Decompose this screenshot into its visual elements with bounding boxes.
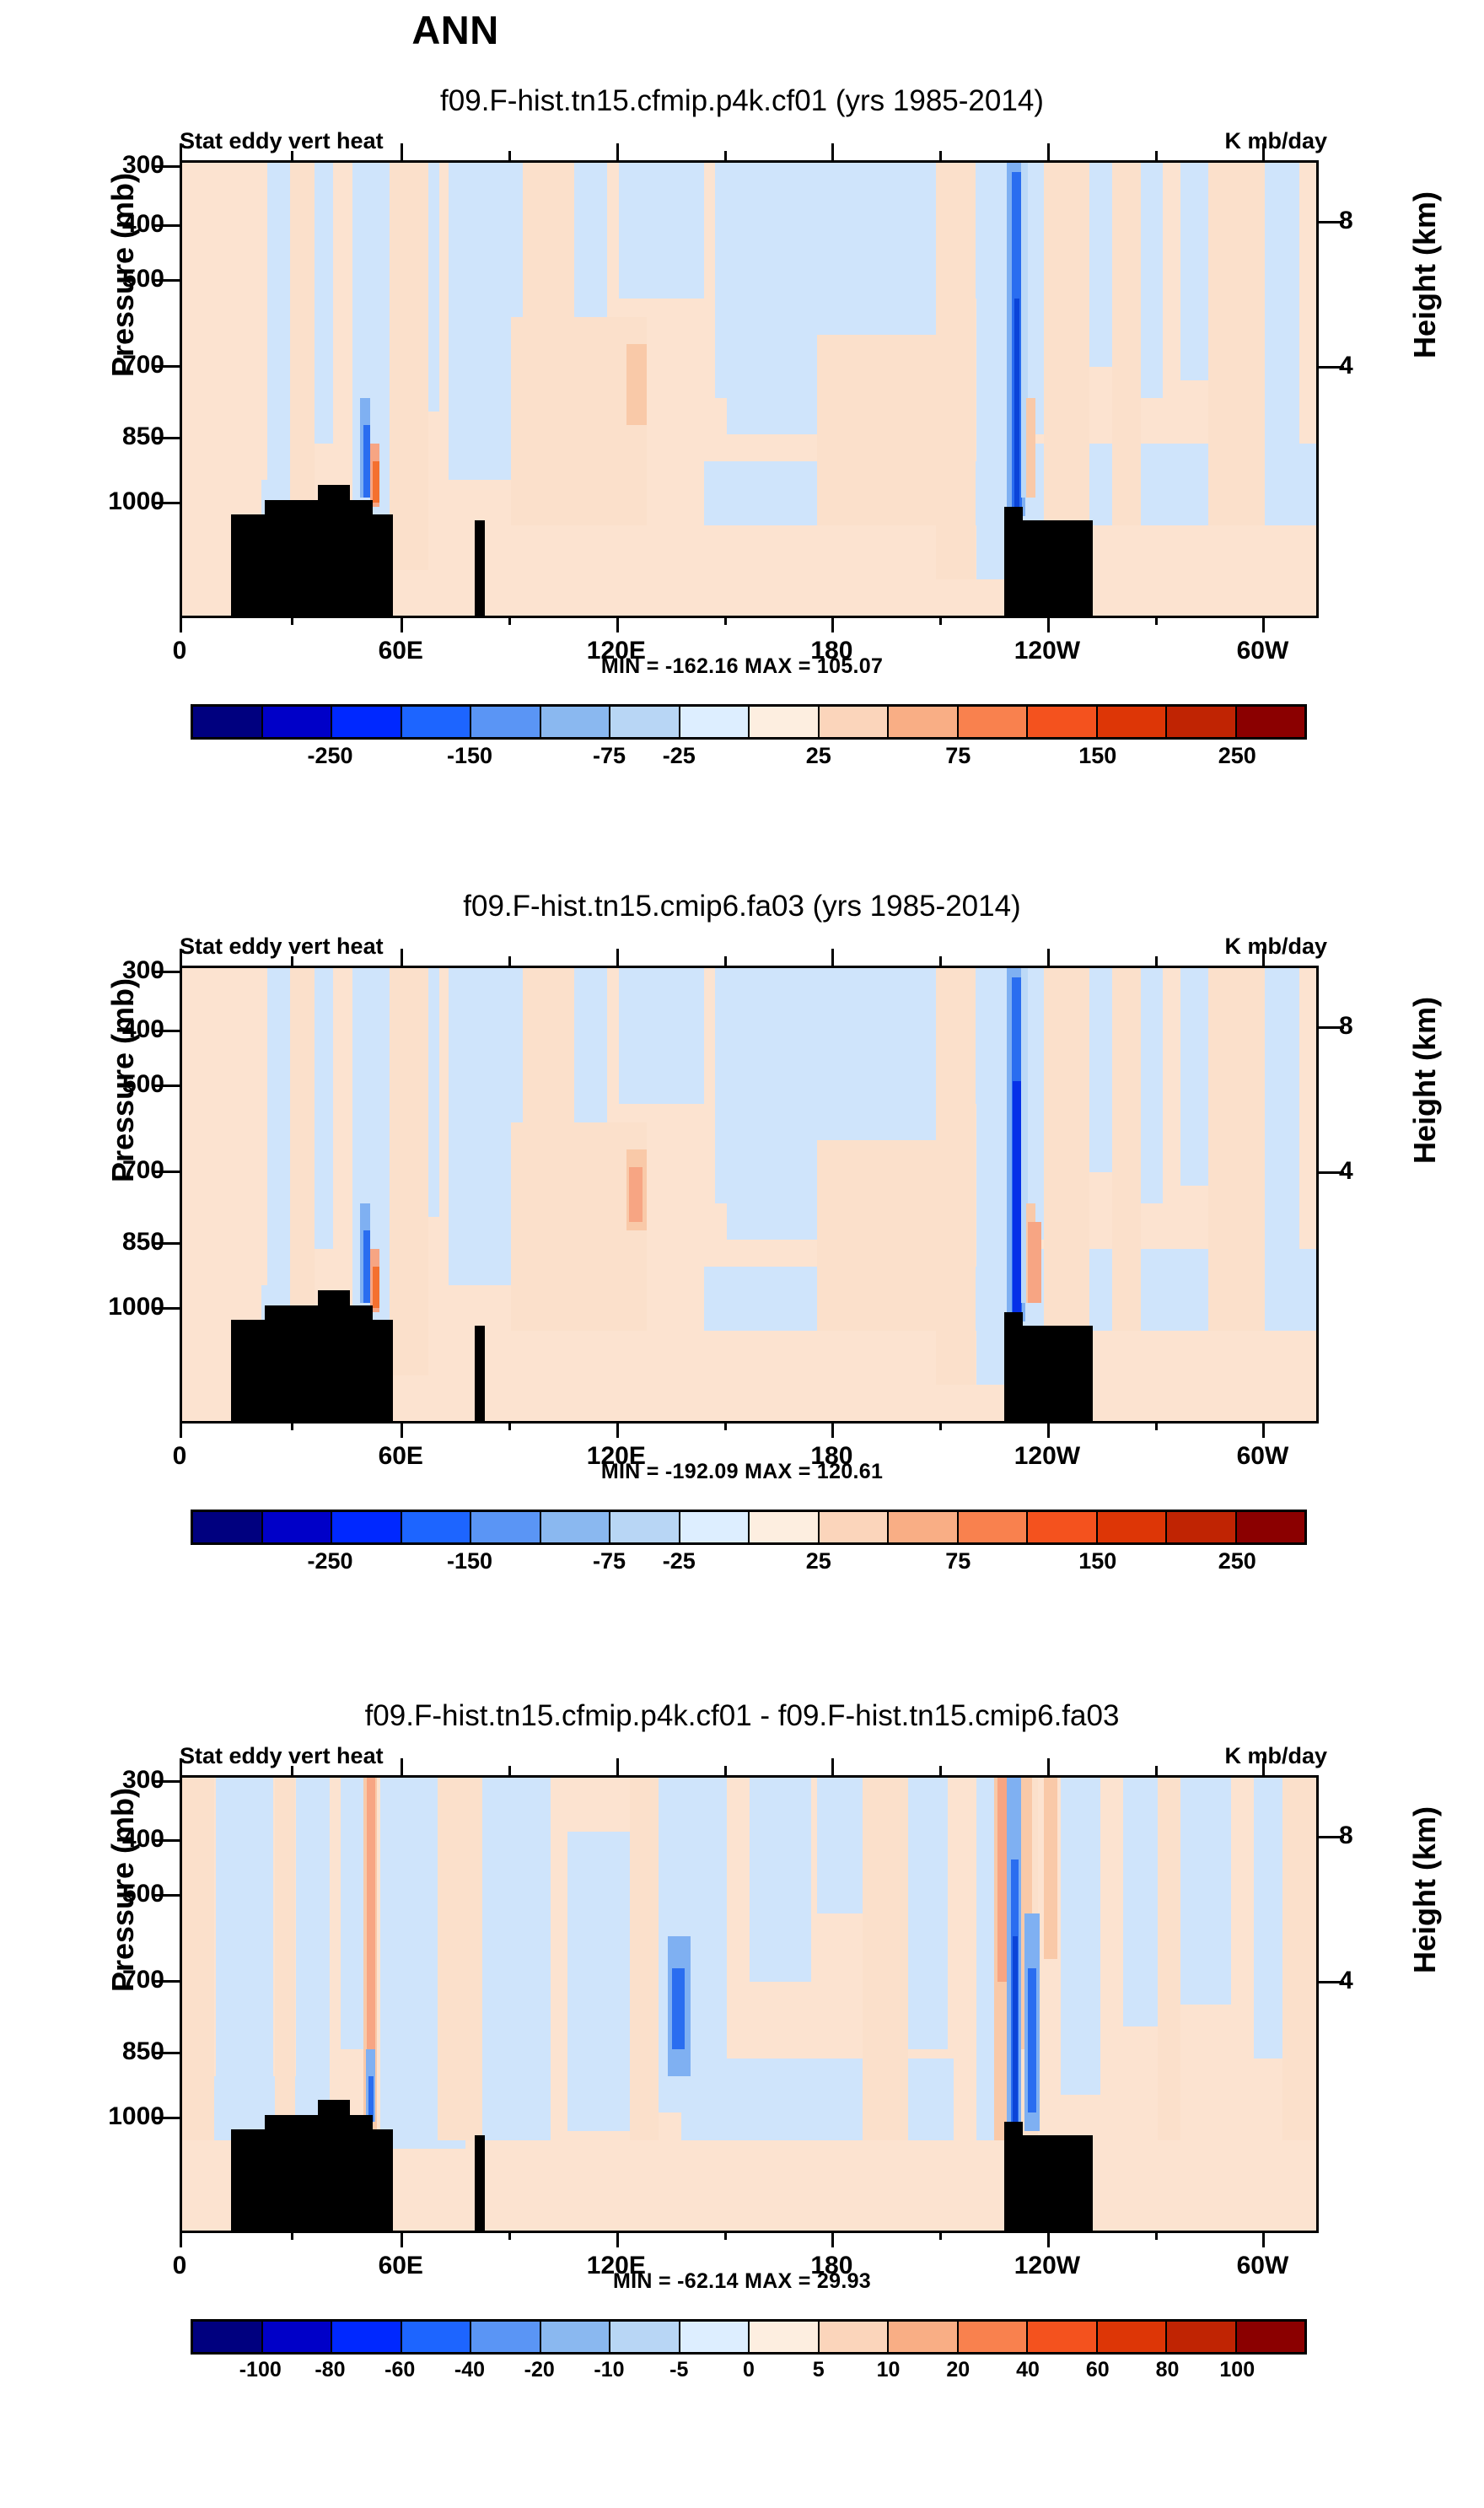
- colorbar-tick-label: 150: [1039, 743, 1157, 769]
- topography-mask: [318, 2100, 350, 2231]
- contour-band: [1265, 163, 1298, 457]
- colorbar-cell: [1167, 707, 1237, 737]
- topography-mask: [231, 514, 265, 616]
- contour-band: [681, 2059, 954, 2140]
- colorbar-cell: [1098, 1512, 1168, 1542]
- y-tick-label: 1000: [63, 2102, 164, 2131]
- x-tick-mark-bottom: [1262, 2231, 1265, 2247]
- colorbar-cell: [750, 707, 820, 737]
- x-tick-mark-bottom: [1262, 616, 1265, 632]
- y2-tick-label: 4: [1339, 352, 1406, 380]
- contour-band: [275, 1778, 295, 2140]
- contour-band: [1208, 163, 1265, 525]
- colorbar-tick-label: 250: [1178, 1548, 1296, 1574]
- x-minor-tick-bottom: [939, 2231, 942, 2240]
- x-minor-tick-bottom: [1155, 1421, 1158, 1430]
- topography-mask: [350, 1305, 373, 1421]
- x-minor-tick-top: [939, 956, 942, 966]
- y2-axis-label: Height (km): [1407, 1755, 1443, 2025]
- contour-band: [313, 968, 333, 1249]
- colorbar-cell: [332, 707, 402, 737]
- y-tick-label: 700: [63, 1156, 164, 1185]
- x-tick-mark-bottom: [180, 1421, 182, 1438]
- topography-mask: [265, 2115, 318, 2231]
- contour-band: [313, 163, 333, 444]
- colorbar-cell: [1167, 1512, 1237, 1542]
- contour-band: [629, 1167, 643, 1221]
- y-tick-label: 400: [63, 1015, 164, 1044]
- colorbar-tick-label: -250: [272, 1548, 390, 1574]
- colorbar-tick-label: -150: [411, 1548, 529, 1574]
- colorbar-cell: [471, 1512, 541, 1542]
- x-tick-label: 180: [764, 2252, 899, 2280]
- colorbar-cell: [332, 2322, 402, 2352]
- panel-title: f09.F-hist.tn15.cfmip.p4k.cf01 - f09.F-h…: [0, 1699, 1484, 1733]
- y-tick-label: 500: [63, 1070, 164, 1099]
- topography-mask: [318, 485, 350, 616]
- topography-mask: [350, 2115, 373, 2231]
- y-tick-label: 850: [63, 1228, 164, 1257]
- y-tick-label: 300: [63, 956, 164, 985]
- colorbar-cell: [889, 2322, 959, 2352]
- x-tick-label: 120W: [980, 1442, 1115, 1471]
- contour-band: [1028, 1968, 1037, 2113]
- contour-band: [1044, 1778, 1057, 1959]
- x-minor-tick-bottom: [291, 1421, 293, 1430]
- colorbar-tick-label: 75: [899, 1548, 1017, 1574]
- x-minor-tick-top: [939, 151, 942, 160]
- x-tick-label: 180: [764, 637, 899, 665]
- contour-band: [1013, 1936, 1017, 2131]
- y2-axis-label: Height (km): [1407, 140, 1443, 410]
- colorbar-cell: [820, 2322, 890, 2352]
- contour-band: [1028, 1222, 1041, 1304]
- x-tick-mark-top: [1047, 949, 1050, 966]
- colorbar-tick-label: -25: [620, 743, 738, 769]
- x-tick-mark-bottom: [831, 616, 834, 632]
- x-minor-tick-top: [1155, 151, 1158, 160]
- x-tick-mark-bottom: [401, 1421, 403, 1438]
- x-minor-tick-bottom: [291, 2231, 293, 2240]
- x-minor-tick-top: [1155, 1766, 1158, 1775]
- x-tick-mark-bottom: [1047, 1421, 1050, 1438]
- colorbar-cell: [820, 707, 890, 737]
- y2-tick-label: 8: [1339, 207, 1406, 235]
- x-tick-label: 120E: [549, 637, 684, 665]
- x-minor-tick-top: [1155, 956, 1158, 966]
- contour-band: [1208, 968, 1265, 1331]
- contour-band: [1044, 968, 1089, 1331]
- x-tick-mark-top: [1047, 1758, 1050, 1775]
- colorbar-cell: [959, 2322, 1029, 2352]
- colorbar-cell: [402, 707, 472, 737]
- colorbar-cell: [1167, 2322, 1237, 2352]
- x-tick-mark-bottom: [831, 2231, 834, 2247]
- panel-title: f09.F-hist.tn15.cmip6.fa03 (yrs 1985-201…: [0, 890, 1484, 923]
- y-tick-label: 1000: [63, 487, 164, 516]
- y-tick-label: 1000: [63, 1293, 164, 1321]
- x-minor-tick-bottom: [724, 2231, 727, 2240]
- topography-mask: [475, 1326, 485, 1421]
- x-minor-tick-bottom: [1155, 616, 1158, 625]
- contour-band: [630, 1778, 659, 2140]
- units-label: K mb/day: [1224, 128, 1327, 154]
- contour-band: [290, 968, 315, 1358]
- colorbar-cell: [750, 2322, 820, 2352]
- x-tick-mark-top: [831, 1758, 834, 1775]
- x-tick-mark-bottom: [1262, 1421, 1265, 1438]
- y-tick-label: 700: [63, 1966, 164, 1994]
- colorbar-cell: [680, 1512, 750, 1542]
- contour-band: [363, 1230, 370, 1303]
- y2-tick-label: 4: [1339, 1967, 1406, 1995]
- main-title: ANN: [0, 7, 911, 53]
- topography-mask: [231, 2129, 265, 2231]
- colorbar-tick-label: 25: [760, 743, 878, 769]
- colorbar-tick-label: 150: [1039, 1548, 1157, 1574]
- contour-band: [1014, 299, 1020, 507]
- colorbar-cell: [1028, 2322, 1098, 2352]
- contour-band: [997, 1778, 1007, 1982]
- x-tick-label: 120E: [549, 2252, 684, 2280]
- contour-band: [1026, 398, 1035, 498]
- contour-band: [1158, 1778, 1180, 2140]
- x-tick-mark-top: [616, 1758, 619, 1775]
- x-tick-mark-bottom: [616, 1421, 619, 1438]
- colorbar-tick-label: 25: [760, 1548, 878, 1574]
- x-minor-tick-bottom: [291, 616, 293, 625]
- y2-tick-label: 4: [1339, 1157, 1406, 1186]
- contour-band: [390, 968, 428, 1375]
- colorbar-cell: [889, 1512, 959, 1542]
- contour-band: [1044, 163, 1089, 525]
- colorbar-tick-label: -25: [620, 1548, 738, 1574]
- variable-label: Stat eddy vert heat: [180, 128, 384, 154]
- colorbar-cell: [263, 707, 333, 737]
- x-tick-label: 60W: [1195, 1442, 1330, 1471]
- colorbar-tick-label: 250: [1178, 743, 1296, 769]
- x-tick-mark-top: [616, 949, 619, 966]
- colorbar-cell: [959, 707, 1029, 737]
- y-tick-label: 850: [63, 422, 164, 451]
- contour-band: [1061, 1778, 1100, 2095]
- x-tick-mark-top: [180, 143, 182, 160]
- x-minor-tick-top: [291, 1766, 293, 1775]
- x-minor-tick-bottom: [508, 616, 511, 625]
- contour-band: [373, 1267, 379, 1307]
- colorbar-cell: [332, 1512, 402, 1542]
- contour-band: [367, 1778, 374, 2059]
- topography-mask: [373, 1320, 393, 1421]
- x-minor-tick-top: [508, 151, 511, 160]
- x-minor-tick-top: [724, 1766, 727, 1775]
- contour-band: [438, 1778, 483, 2140]
- x-tick-label: 60E: [333, 637, 468, 665]
- colorbar-cell: [471, 2322, 541, 2352]
- colorbar-cell: [1098, 2322, 1168, 2352]
- x-minor-tick-bottom: [939, 616, 942, 625]
- colorbar-cell: [193, 2322, 263, 2352]
- x-tick-label: 120E: [549, 1442, 684, 1471]
- colorbar[interactable]: [191, 704, 1307, 740]
- x-tick-mark-bottom: [616, 616, 619, 632]
- x-tick-mark-top: [831, 143, 834, 160]
- contour-band: [863, 1778, 908, 2140]
- colorbar-cell: [610, 1512, 680, 1542]
- x-minor-tick-bottom: [508, 1421, 511, 1430]
- x-tick-mark-top: [1262, 949, 1265, 966]
- topography-mask: [1004, 507, 1023, 616]
- topography-mask: [265, 1305, 318, 1421]
- contour-band: [936, 968, 976, 1385]
- panel-title: f09.F-hist.tn15.cfmip.p4k.cf01 (yrs 1985…: [0, 84, 1484, 118]
- topography-mask: [373, 514, 393, 616]
- x-tick-label: 60W: [1195, 2252, 1330, 2280]
- x-tick-mark-top: [180, 1758, 182, 1775]
- x-minor-tick-bottom: [508, 2231, 511, 2240]
- x-tick-label: 0: [112, 2252, 247, 2280]
- contour-band: [523, 968, 575, 1127]
- contour-band: [1123, 1778, 1157, 2026]
- contour-band: [936, 163, 976, 579]
- x-tick-label: 180: [764, 1442, 899, 1471]
- x-tick-mark-top: [180, 949, 182, 966]
- colorbar-cell: [820, 1512, 890, 1542]
- topography-mask: [1004, 1312, 1023, 1421]
- y-tick-label: 400: [63, 1825, 164, 1854]
- x-tick-mark-bottom: [401, 2231, 403, 2247]
- colorbar-cell: [1237, 1512, 1305, 1542]
- x-minor-tick-bottom: [724, 616, 727, 625]
- colorbar-cell: [541, 707, 611, 737]
- colorbar-tick-label: -150: [411, 743, 529, 769]
- x-tick-mark-bottom: [1047, 2231, 1050, 2247]
- contour-band: [619, 163, 704, 299]
- x-minor-tick-bottom: [724, 1421, 727, 1430]
- contour-band: [290, 163, 315, 552]
- x-minor-tick-top: [724, 151, 727, 160]
- y-tick-label: 300: [63, 1766, 164, 1795]
- contour-band: [1089, 968, 1115, 1172]
- x-minor-tick-top: [508, 1766, 511, 1775]
- x-tick-mark-bottom: [1047, 616, 1050, 632]
- colorbar-cell: [1098, 707, 1168, 737]
- colorbar-cell: [680, 707, 750, 737]
- colorbar-cell: [750, 1512, 820, 1542]
- colorbar-cell: [193, 707, 263, 737]
- contour-band: [1112, 968, 1141, 1331]
- contour-band: [908, 1778, 948, 2049]
- units-label: K mb/day: [1224, 1743, 1327, 1769]
- colorbar-cell: [193, 1512, 263, 1542]
- colorbar-cell: [1028, 1512, 1098, 1542]
- colorbar-cell: [263, 2322, 333, 2352]
- contour-band: [341, 1778, 366, 2049]
- contour-band: [1013, 1081, 1020, 1312]
- topography-mask: [475, 520, 485, 616]
- y2-axis-label: Height (km): [1407, 945, 1443, 1215]
- plot-area: [180, 160, 1319, 618]
- x-minor-tick-bottom: [939, 1421, 942, 1430]
- x-tick-label: 60E: [333, 1442, 468, 1471]
- y-tick-label: 300: [63, 151, 164, 180]
- colorbar-cell: [610, 707, 680, 737]
- x-tick-mark-bottom: [180, 616, 182, 632]
- x-tick-mark-bottom: [616, 2231, 619, 2247]
- contour-band: [567, 1832, 636, 2130]
- contour-band: [296, 1778, 330, 2140]
- contour-band: [1141, 968, 1164, 1203]
- colorbar-cell: [263, 1512, 333, 1542]
- colorbar-cell: [402, 2322, 472, 2352]
- contour-band: [1265, 968, 1298, 1262]
- x-tick-mark-bottom: [401, 616, 403, 632]
- x-tick-mark-bottom: [831, 1421, 834, 1438]
- x-minor-tick-top: [508, 956, 511, 966]
- contour-band: [373, 461, 379, 502]
- topography-mask: [1004, 2122, 1023, 2231]
- contour-band: [1141, 163, 1164, 398]
- x-tick-label: 120W: [980, 2252, 1115, 2280]
- colorbar-cell: [541, 2322, 611, 2352]
- contour-band: [1282, 1778, 1316, 2140]
- colorbar-cell: [1028, 707, 1098, 737]
- x-tick-label: 0: [112, 637, 247, 665]
- topography-mask: [1023, 520, 1093, 616]
- contour-band: [182, 1778, 214, 2140]
- colorbar-cell: [610, 2322, 680, 2352]
- contour-band: [672, 1968, 685, 2050]
- contour-band: [182, 163, 261, 525]
- y-tick-label: 700: [63, 351, 164, 379]
- contour-band: [390, 163, 428, 570]
- colorbar-cell: [680, 2322, 750, 2352]
- x-tick-mark-top: [401, 143, 403, 160]
- contour-band: [182, 968, 261, 1331]
- topography-mask: [373, 2129, 393, 2231]
- colorbar-cell: [889, 707, 959, 737]
- y-tick-label: 400: [63, 210, 164, 239]
- x-tick-mark-top: [1262, 1758, 1265, 1775]
- x-minor-tick-top: [291, 151, 293, 160]
- colorbar-cell: [402, 1512, 472, 1542]
- colorbar-cell: [471, 707, 541, 737]
- colorbar-cell: [1237, 707, 1305, 737]
- x-tick-mark-bottom: [180, 2231, 182, 2247]
- x-tick-label: 0: [112, 1442, 247, 1471]
- colorbar-tick-label: -250: [272, 743, 390, 769]
- contour-band: [523, 163, 575, 321]
- y-tick-label: 500: [63, 1880, 164, 1908]
- topography-mask: [318, 1290, 350, 1421]
- x-tick-label: 60E: [333, 2252, 468, 2280]
- plot-area: [180, 1775, 1319, 2233]
- contour-band: [1089, 163, 1115, 367]
- x-tick-mark-top: [616, 143, 619, 160]
- x-minor-tick-bottom: [1155, 2231, 1158, 2240]
- x-minor-tick-top: [939, 1766, 942, 1775]
- units-label: K mb/day: [1224, 934, 1327, 960]
- x-tick-mark-top: [401, 949, 403, 966]
- plot-area: [180, 966, 1319, 1424]
- x-tick-mark-top: [401, 1758, 403, 1775]
- y2-tick-label: 8: [1339, 1012, 1406, 1041]
- colorbar-tick-label: 100: [1178, 2358, 1296, 2382]
- colorbar-cell: [1237, 2322, 1305, 2352]
- topography-mask: [265, 500, 318, 616]
- contour-band: [363, 425, 370, 498]
- x-tick-label: 120W: [980, 637, 1115, 665]
- x-tick-mark-top: [1262, 143, 1265, 160]
- x-minor-tick-top: [291, 956, 293, 966]
- x-tick-label: 60W: [1195, 637, 1330, 665]
- x-tick-mark-top: [1047, 143, 1050, 160]
- colorbar-cell: [959, 1512, 1029, 1542]
- topography-mask: [1023, 1326, 1093, 1421]
- contour-band: [1180, 1778, 1232, 2005]
- variable-label: Stat eddy vert heat: [180, 1743, 384, 1769]
- colorbar-cell: [541, 1512, 611, 1542]
- contour-band: [750, 1778, 812, 1982]
- y-tick-label: 850: [63, 2037, 164, 2066]
- colorbar[interactable]: [191, 1510, 1307, 1545]
- contour-band: [619, 968, 704, 1104]
- topography-mask: [350, 500, 373, 616]
- y-tick-label: 500: [63, 265, 164, 293]
- contour-band: [626, 344, 647, 426]
- variable-label: Stat eddy vert heat: [180, 934, 384, 960]
- x-minor-tick-top: [724, 956, 727, 966]
- colorbar-tick-label: 75: [899, 743, 1017, 769]
- y2-tick-label: 8: [1339, 1822, 1406, 1850]
- topography-mask: [1023, 2135, 1093, 2231]
- contour-band: [1112, 163, 1141, 525]
- topography-mask: [475, 2135, 485, 2231]
- topography-mask: [231, 1320, 265, 1421]
- contour-band: [482, 1778, 551, 2140]
- colorbar[interactable]: [191, 2319, 1307, 2355]
- x-tick-mark-top: [831, 949, 834, 966]
